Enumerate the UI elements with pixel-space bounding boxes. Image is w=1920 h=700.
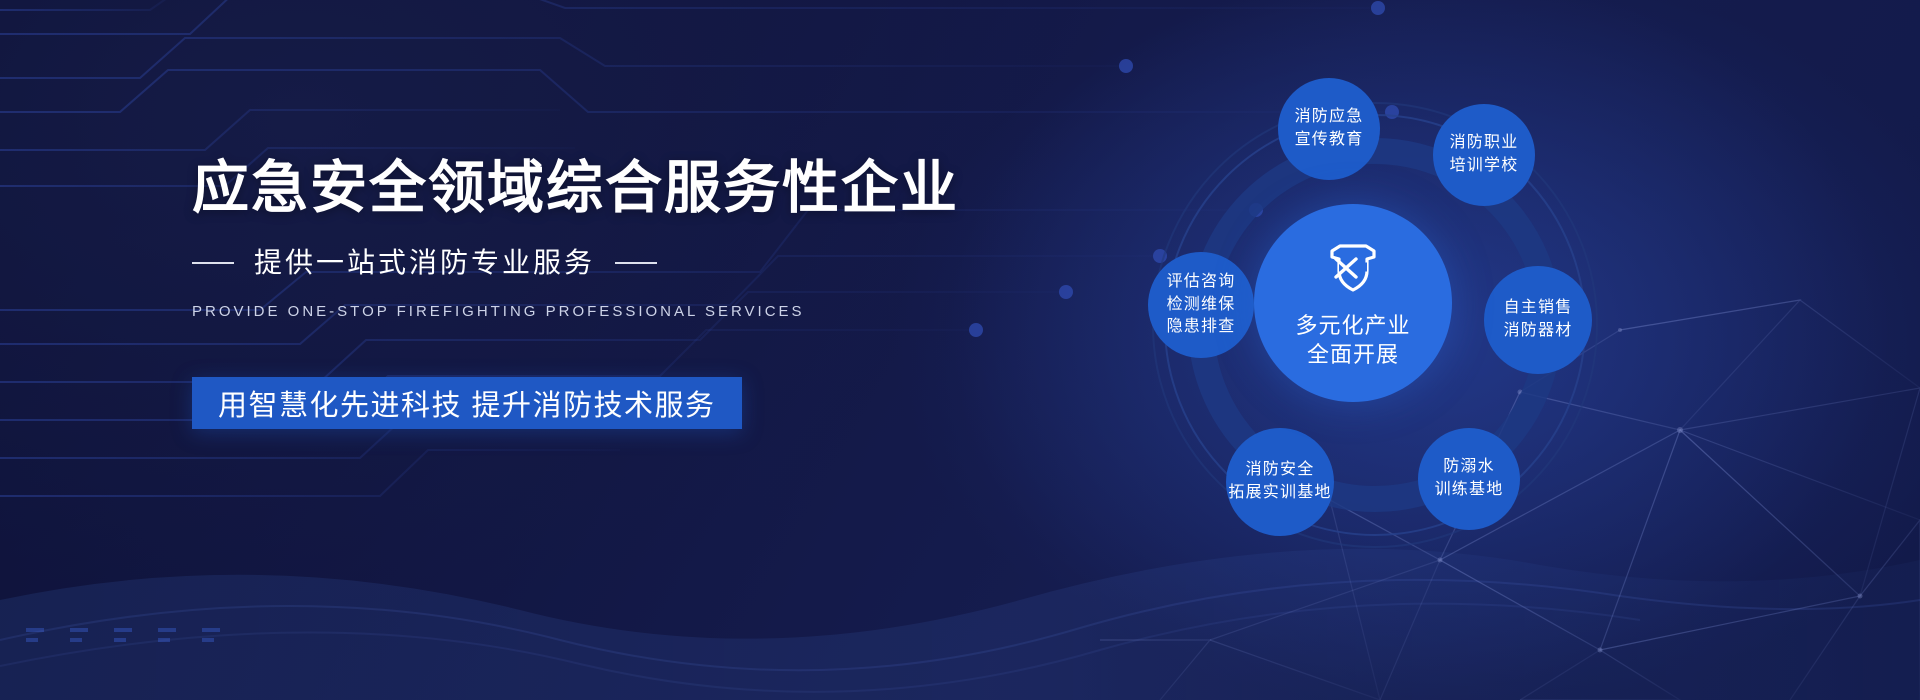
node-label-line2: 检测维保 <box>1167 294 1236 317</box>
node-label-line1: 消防职业 <box>1450 132 1519 155</box>
node-label-line1: 消防应急 <box>1295 106 1364 129</box>
center-label-line1: 多元化产业 <box>1295 312 1410 341</box>
subtitle-row: 提供一站式消防专业服务 <box>192 249 1092 277</box>
node-label-line2: 训练基地 <box>1435 479 1504 502</box>
hero-text-block: 应急安全领域综合服务性企业 提供一站式消防专业服务 PROVIDE ONE-ST… <box>192 160 1092 429</box>
diagram-node-vocational-training-school[interactable]: 消防职业 培训学校 <box>1433 104 1535 206</box>
english-tagline: PROVIDE ONE-STOP FIREFIGHTING PROFESSION… <box>192 303 1092 320</box>
node-label-line1: 自主销售 <box>1504 297 1573 320</box>
diagram-node-assessment-inspection[interactable]: 评估咨询 检测维保 隐患排查 <box>1148 252 1254 358</box>
node-label-line2: 消防器材 <box>1504 320 1573 343</box>
diagram-node-safety-training-base[interactable]: 消防安全 拓展实训基地 <box>1226 428 1334 536</box>
diagram-node-equipment-sales[interactable]: 自主销售 消防器材 <box>1484 266 1592 374</box>
cta-button[interactable]: 用智慧化先进科技 提升消防技术服务 <box>192 377 742 429</box>
subtitle-text: 提供一站式消防专业服务 <box>254 249 595 277</box>
node-label-line1: 消防安全 <box>1246 459 1315 482</box>
node-label-line2: 培训学校 <box>1450 155 1519 178</box>
dash-left-decoration <box>192 262 234 264</box>
node-label-line3: 隐患排查 <box>1167 316 1236 339</box>
diagram-node-anti-drowning-training-base[interactable]: 防溺水 训练基地 <box>1418 428 1520 530</box>
diagram-center-node[interactable]: 多元化产业 全面开展 <box>1254 204 1452 402</box>
business-ecosystem-diagram: 多元化产业 全面开展 消防应急 宣传教育 消防职业 培训学校 自主销售 消防器材… <box>1130 80 1620 570</box>
center-label-line2: 全面开展 <box>1307 341 1399 370</box>
shield-logo-icon <box>1322 237 1384 304</box>
node-label-line2: 宣传教育 <box>1295 129 1364 152</box>
dash-right-decoration <box>615 262 657 264</box>
node-label-line1: 评估咨询 <box>1167 271 1236 294</box>
diagram-node-fire-emergency-education[interactable]: 消防应急 宣传教育 <box>1278 78 1380 180</box>
page-title: 应急安全领域综合服务性企业 <box>192 160 1092 217</box>
node-label-line1: 防溺水 <box>1443 456 1495 479</box>
node-label-line2: 拓展实训基地 <box>1228 482 1331 505</box>
hero-banner: 应急安全领域综合服务性企业 提供一站式消防专业服务 PROVIDE ONE-ST… <box>0 0 1920 700</box>
